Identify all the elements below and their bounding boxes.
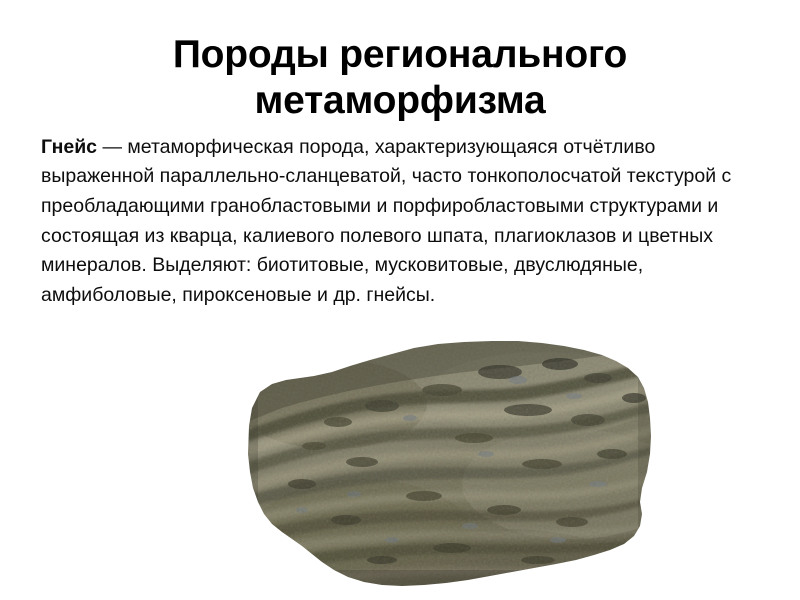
gneiss-rock-image (242, 334, 654, 596)
gneiss-rock-figure (242, 334, 654, 596)
page-title: Породы регионального метаморфизма (0, 32, 800, 124)
body-rest: — метаморфическая порода, характеризующа… (41, 136, 731, 307)
lead-term: Гнейс (41, 136, 97, 158)
slide-root: Породы регионального метаморфизма Гнейс … (0, 0, 800, 600)
rock-body (242, 334, 654, 596)
body-paragraph: Гнейс — метаморфическая порода, характер… (41, 133, 765, 311)
